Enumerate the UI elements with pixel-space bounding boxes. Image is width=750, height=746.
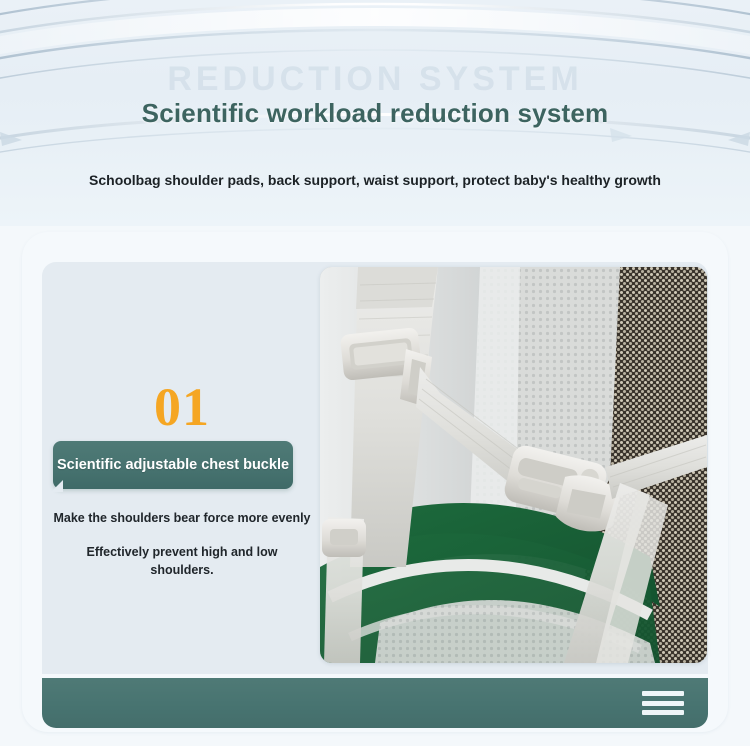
feature-description-line-1: Make the shoulders bear force more evenl… — [44, 511, 320, 525]
feature-text-column: 01 Scientific adjustable chest buckle Ma… — [44, 262, 320, 674]
feature-description-line-2: Effectively prevent high and low shoulde… — [82, 543, 282, 579]
feature-badge-wrapper: Scientific adjustable chest buckle — [53, 441, 293, 489]
hamburger-menu-icon[interactable] — [642, 691, 684, 715]
hero-banner: REDUCTION SYSTEM Scientific workload red… — [0, 0, 750, 226]
hero-watermark-text: REDUCTION SYSTEM — [0, 60, 750, 99]
hamburger-line-2 — [642, 701, 684, 706]
hamburger-line-1 — [642, 691, 684, 696]
feature-badge[interactable]: Scientific adjustable chest buckle — [53, 441, 293, 489]
product-feature-page: REDUCTION SYSTEM Scientific workload red… — [0, 0, 750, 746]
feature-number: 01 — [44, 380, 320, 434]
page-title: Scientific workload reduction system — [0, 98, 750, 129]
bottom-action-bar — [42, 678, 708, 728]
hamburger-line-3 — [642, 710, 684, 715]
page-subtitle: Schoolbag shoulder pads, back support, w… — [0, 172, 750, 188]
feature-badge-label: Scientific adjustable chest buckle — [57, 457, 289, 473]
badge-corner-notch — [51, 480, 63, 492]
product-photo — [320, 267, 707, 663]
